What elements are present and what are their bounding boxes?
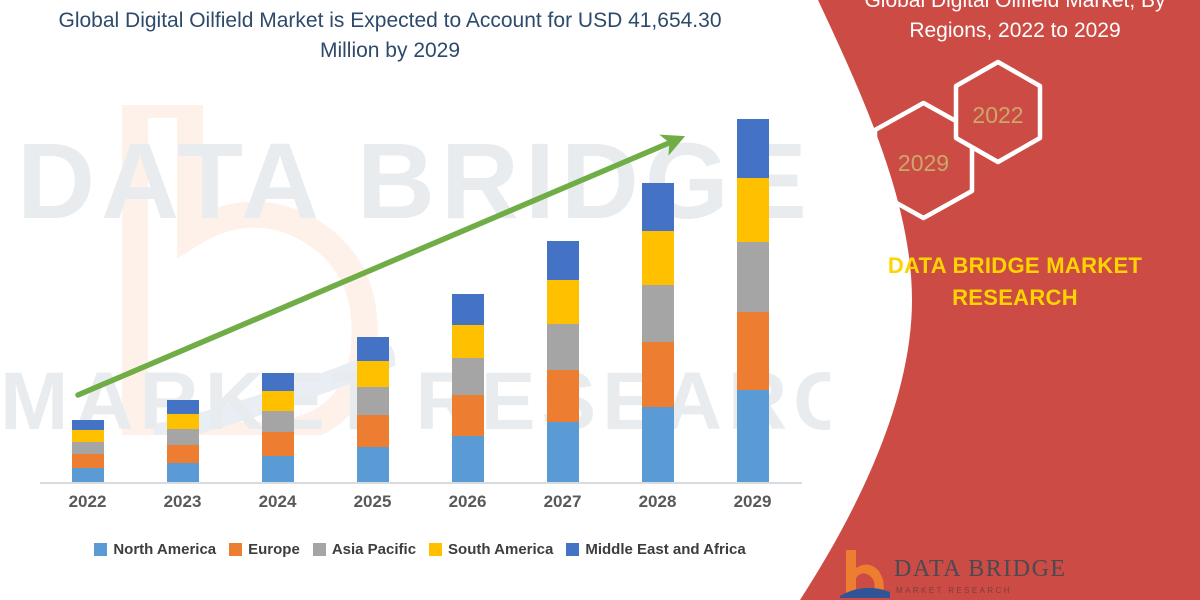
- bar-segment-middle-east-and-africa[interactable]: [72, 420, 104, 430]
- bar-group-2025[interactable]: [357, 337, 389, 483]
- bar-segment-north-america[interactable]: [167, 463, 199, 483]
- legend-swatch-icon: [566, 543, 579, 556]
- bar-segment-asia-pacific[interactable]: [262, 411, 294, 432]
- bar-segment-europe[interactable]: [737, 312, 769, 390]
- bar-segment-north-america[interactable]: [547, 422, 579, 483]
- legend-swatch-icon: [229, 543, 242, 556]
- brand-heading: Global Digital Oilfield Market, By Regio…: [840, 0, 1190, 46]
- x-axis-line: [40, 482, 802, 484]
- bar-segment-south-america[interactable]: [642, 231, 674, 284]
- chart-legend: North AmericaEuropeAsia PacificSouth Ame…: [40, 541, 800, 558]
- bar-segment-asia-pacific[interactable]: [72, 442, 104, 454]
- legend-item-europe[interactable]: Europe: [229, 541, 300, 558]
- brand-logo: DATA BRIDGE MARKET RESEARCH: [838, 548, 1198, 600]
- x-tick-2026: 2026: [423, 492, 513, 512]
- bar-group-2028[interactable]: [642, 183, 674, 483]
- bar-group-2024[interactable]: [262, 373, 294, 483]
- legend-label: Middle East and Africa: [585, 541, 745, 558]
- bridge-logo-icon: [838, 548, 890, 598]
- legend-swatch-icon: [313, 543, 326, 556]
- bar-group-2026[interactable]: [452, 294, 484, 483]
- bar-group-2023[interactable]: [167, 400, 199, 483]
- bar-segment-middle-east-and-africa[interactable]: [262, 373, 294, 391]
- bar-segment-middle-east-and-africa[interactable]: [167, 400, 199, 414]
- bar-group-2027[interactable]: [547, 241, 579, 483]
- bar-segment-north-america[interactable]: [737, 390, 769, 483]
- bar-segment-south-america[interactable]: [357, 361, 389, 387]
- chart-panel: DATA BRIDGE MARKET RESEARCH Global Digit…: [0, 0, 830, 600]
- bar-segment-europe[interactable]: [262, 432, 294, 456]
- bar-segment-asia-pacific[interactable]: [452, 358, 484, 394]
- legend-label: Asia Pacific: [332, 541, 416, 558]
- legend-item-north-america[interactable]: North America: [94, 541, 216, 558]
- x-tick-2024: 2024: [233, 492, 323, 512]
- x-tick-2028: 2028: [613, 492, 703, 512]
- bar-segment-asia-pacific[interactable]: [547, 324, 579, 371]
- bar-segment-south-america[interactable]: [452, 325, 484, 359]
- bar-segment-north-america[interactable]: [642, 407, 674, 483]
- bar-segment-asia-pacific[interactable]: [642, 285, 674, 343]
- bar-segment-europe[interactable]: [167, 445, 199, 463]
- legend-label: Europe: [248, 541, 300, 558]
- bar-segment-europe[interactable]: [72, 454, 104, 468]
- bar-segment-south-america[interactable]: [262, 391, 294, 411]
- legend-item-south-america[interactable]: South America: [429, 541, 553, 558]
- bar-segment-south-america[interactable]: [737, 178, 769, 242]
- bar-segment-europe[interactable]: [642, 342, 674, 406]
- bar-segment-middle-east-and-africa[interactable]: [642, 183, 674, 231]
- legend-label: North America: [113, 541, 216, 558]
- legend-label: South America: [448, 541, 553, 558]
- brand-name: DATA BRIDGE MARKET RESEARCH: [830, 250, 1200, 314]
- bar-segment-middle-east-and-africa[interactable]: [547, 241, 579, 280]
- bar-segment-north-america[interactable]: [357, 447, 389, 483]
- bar-segment-north-america[interactable]: [452, 436, 484, 483]
- bar-segment-europe[interactable]: [452, 395, 484, 436]
- bar-segment-south-america[interactable]: [72, 430, 104, 442]
- bar-group-2022[interactable]: [72, 420, 104, 483]
- x-axis-tick-labels: 20222023202420252026202720282029: [40, 492, 800, 522]
- bar-segment-asia-pacific[interactable]: [357, 387, 389, 415]
- bar-segment-north-america[interactable]: [72, 468, 104, 483]
- bar-segment-asia-pacific[interactable]: [167, 429, 199, 445]
- legend-swatch-icon: [94, 543, 107, 556]
- bar-segment-europe[interactable]: [357, 415, 389, 446]
- bar-segment-middle-east-and-africa[interactable]: [357, 337, 389, 361]
- legend-item-asia-pacific[interactable]: Asia Pacific: [313, 541, 416, 558]
- x-tick-2029: 2029: [708, 492, 798, 512]
- bar-group-2029[interactable]: [737, 119, 769, 483]
- plot-area: [40, 110, 800, 483]
- brand-content: Global Digital Oilfield Market, By Regio…: [830, 0, 1200, 600]
- legend-swatch-icon: [429, 543, 442, 556]
- bar-segment-middle-east-and-africa[interactable]: [452, 294, 484, 325]
- x-tick-2022: 2022: [43, 492, 133, 512]
- bar-segment-south-america[interactable]: [547, 280, 579, 323]
- bar-segment-south-america[interactable]: [167, 414, 199, 429]
- brand-logo-subtext: MARKET RESEARCH: [896, 586, 1012, 595]
- bar-segment-middle-east-and-africa[interactable]: [737, 119, 769, 177]
- x-tick-2027: 2027: [518, 492, 608, 512]
- x-tick-2023: 2023: [138, 492, 228, 512]
- legend-item-middle-east-and-africa[interactable]: Middle East and Africa: [566, 541, 745, 558]
- hexagon-2022-label: 2022: [948, 102, 1048, 129]
- page-title: Global Digital Oilfield Market is Expect…: [40, 6, 740, 66]
- x-tick-2025: 2025: [328, 492, 418, 512]
- brand-logo-text: DATA BRIDGE: [894, 556, 1067, 583]
- bar-segment-asia-pacific[interactable]: [737, 242, 769, 312]
- bar-segment-europe[interactable]: [547, 370, 579, 422]
- bar-segment-north-america[interactable]: [262, 456, 294, 483]
